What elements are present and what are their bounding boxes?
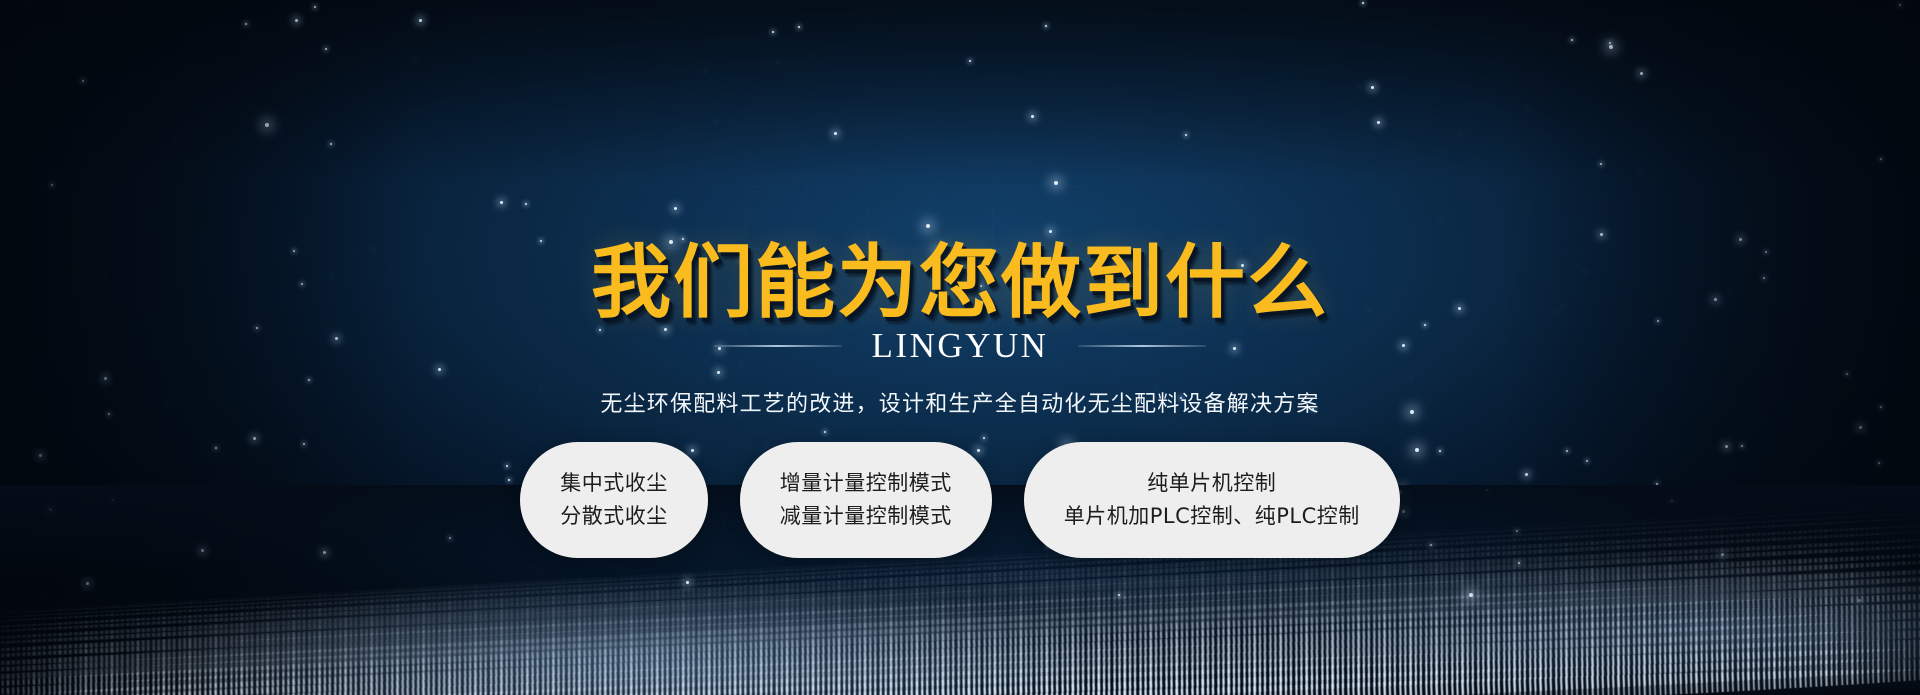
feature-pill-line-2: 单片机加PLC控制、纯PLC控制 bbox=[1064, 506, 1360, 527]
banner-content: 我们能为您做到什么 LINGYUN 无尘环保配料工艺的改进，设计和生产全自动化无… bbox=[0, 0, 1920, 695]
banner-subtitle: 无尘环保配料工艺的改进，设计和生产全自动化无尘配料设备解决方案 bbox=[0, 386, 1920, 418]
banner-headline: 我们能为您做到什么 bbox=[0, 218, 1920, 334]
brand-row: LINGYUN bbox=[0, 328, 1920, 363]
feature-pill-line-1: 增量计量控制模式 bbox=[780, 473, 952, 494]
feature-pill-line-2: 减量计量控制模式 bbox=[780, 506, 952, 527]
divider-line-right bbox=[1078, 345, 1206, 347]
feature-pill-row: 集中式收尘分散式收尘增量计量控制模式减量计量控制模式纯单片机控制单片机加PLC控… bbox=[0, 442, 1920, 558]
feature-pill-line-1: 纯单片机控制 bbox=[1147, 473, 1276, 494]
divider-line-left bbox=[714, 345, 842, 347]
feature-pill-line-1: 集中式收尘 bbox=[560, 473, 668, 494]
feature-pill[interactable]: 纯单片机控制单片机加PLC控制、纯PLC控制 bbox=[1024, 442, 1400, 558]
feature-pill-line-2: 分散式收尘 bbox=[560, 506, 668, 527]
feature-pill[interactable]: 增量计量控制模式减量计量控制模式 bbox=[740, 442, 992, 558]
hero-banner: 我们能为您做到什么 LINGYUN 无尘环保配料工艺的改进，设计和生产全自动化无… bbox=[0, 0, 1920, 695]
feature-pill[interactable]: 集中式收尘分散式收尘 bbox=[520, 442, 708, 558]
brand-name: LINGYUN bbox=[872, 328, 1049, 363]
